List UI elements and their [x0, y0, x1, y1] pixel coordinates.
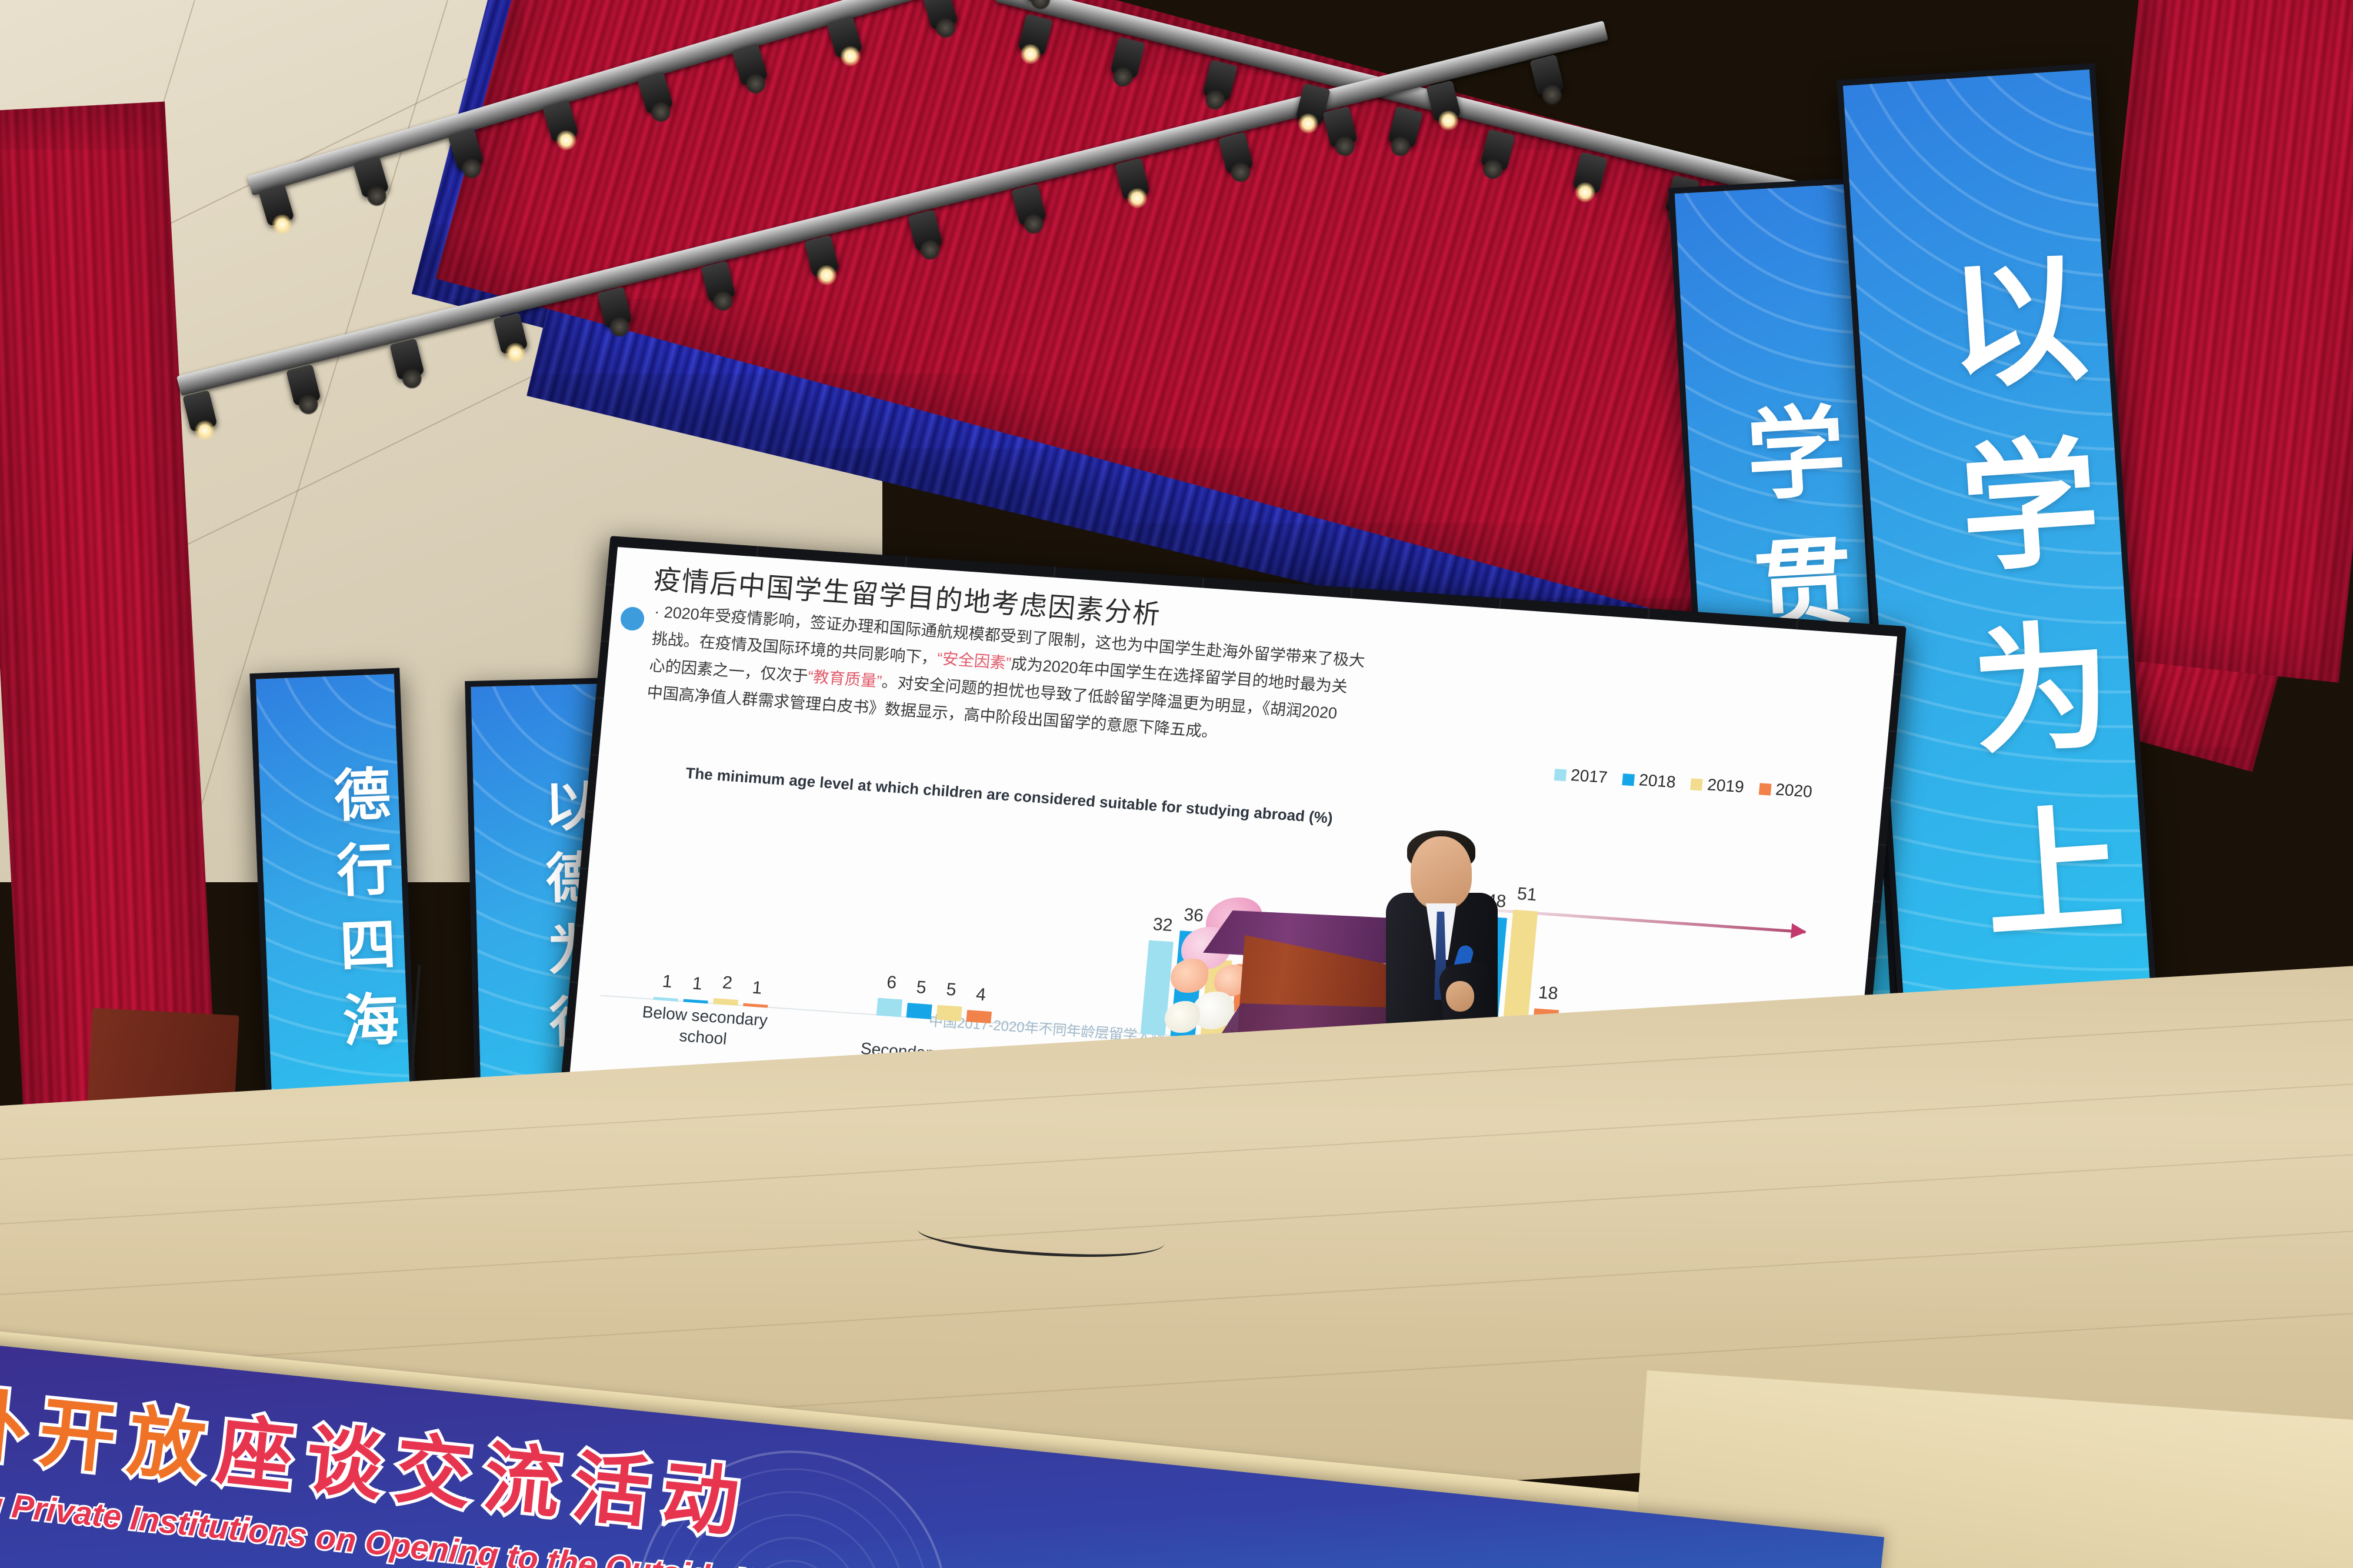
legend-label-2017: 2017: [1570, 766, 1608, 786]
chart-bar: 2: [713, 998, 738, 1006]
chart-bar: 6: [876, 998, 903, 1017]
chart-bar: 1: [743, 1003, 768, 1008]
chart-bar-value-label: 51: [1517, 884, 1538, 905]
speaker-head: [1411, 836, 1472, 909]
legend-label-2020: 2020: [1775, 780, 1813, 800]
chart-bar-value-label: 1: [691, 974, 703, 995]
chart-bar-value-label: 5: [915, 978, 927, 998]
legend-swatch-2020: [1759, 783, 1772, 795]
chart-bar: 1: [683, 999, 708, 1004]
legend-label-2019: 2019: [1707, 775, 1745, 796]
chart-bar: 4: [966, 1010, 992, 1023]
chart-bar: 5: [906, 1003, 932, 1019]
legend-item-2020: 2020: [1758, 779, 1813, 801]
chart-category-label: Below secondary school: [614, 1000, 794, 1055]
chart-bar-value-label: 18: [1538, 983, 1559, 1004]
chart-bar-value-label: 5: [945, 980, 957, 1000]
legend-label-2018: 2018: [1638, 770, 1677, 791]
auditorium-stage-scene: // place lamps along trusses (decorative…: [0, 0, 2353, 1568]
highlight-safety: “安全因素”: [936, 649, 1012, 672]
highlight-quality: “教育质量”: [807, 668, 882, 690]
legend-item-2018: 2018: [1622, 769, 1677, 792]
chart-bar-value-label: 1: [661, 972, 673, 992]
chart-bar-value-label: 1: [751, 978, 763, 999]
chart-bar: 1: [653, 997, 678, 1002]
legend-item-2019: 2019: [1690, 774, 1745, 796]
chart-bar: 5: [936, 1005, 962, 1022]
chart-bar-value-label: 2: [722, 973, 734, 993]
legend-item-2017: 2017: [1554, 765, 1608, 787]
chart-bar-value-label: 4: [975, 985, 987, 1005]
chart-bar-value-label: 6: [886, 973, 898, 993]
chart-category-group: 1121: [653, 806, 785, 1007]
stage-light: [1529, 54, 1565, 96]
speaker-hand: [1446, 981, 1474, 1012]
legend-swatch-2018: [1622, 773, 1635, 786]
banner-calligraphy-text: 以学为上: [1849, 161, 2155, 1076]
banner-calligraphy-text: 德行四海: [257, 716, 411, 1117]
legend-swatch-2017: [1554, 769, 1567, 781]
chart-category-group: 6554: [876, 822, 1008, 1023]
slide-body-text: · 2020年受疫情影响，签证办理和国际通航规模都受到了限制，这也为中国学生赴海…: [646, 598, 1818, 787]
bullet-dot-icon: [619, 606, 645, 632]
legend-swatch-2019: [1690, 778, 1703, 790]
event-banner-chinese-orange: 外开放: [0, 1379, 222, 1494]
